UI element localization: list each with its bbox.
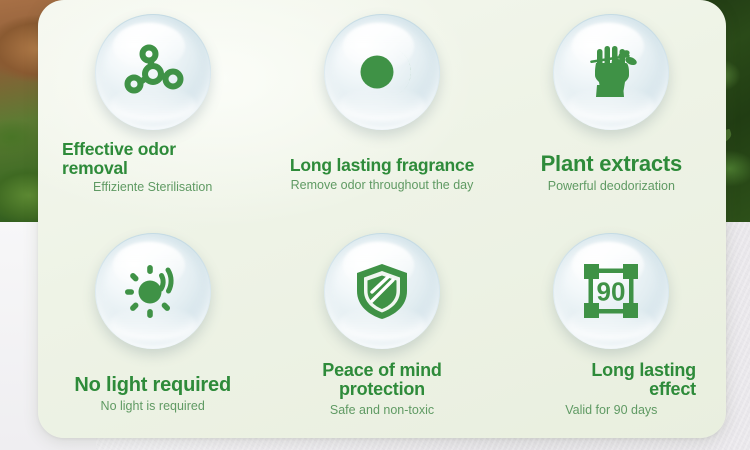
sun-no-light-icon: [123, 261, 183, 321]
shield-icon: [353, 261, 411, 321]
feature-caption: Long lasting effect Valid for 90 days: [497, 361, 726, 418]
feature-item-no-light-required[interactable]: No light required No light is required: [38, 219, 267, 438]
badge-number: 90: [597, 277, 626, 307]
feature-item-long-lasting-fragrance[interactable]: Long lasting fragrance Remove odor throu…: [267, 0, 496, 219]
feature-item-long-lasting-effect[interactable]: 90 Long lasting effect Valid for 90 days: [497, 219, 726, 438]
icon-bubble: [95, 233, 211, 349]
feature-caption: Long lasting fragrance Remove odor throu…: [267, 156, 496, 193]
icon-bubble: [553, 14, 669, 130]
molecule-icon: [122, 41, 184, 103]
moon-crescent-icon: [353, 43, 411, 101]
feature-title: Effective odor removal: [48, 140, 257, 177]
feature-subtitle: Valid for 90 days: [507, 403, 716, 418]
feature-title: No light required: [48, 375, 257, 396]
icon-bubble: [324, 14, 440, 130]
icon-bubble: [95, 14, 211, 130]
feature-title: Plant extracts: [507, 152, 716, 176]
feature-caption: Plant extracts Powerful deodorization: [497, 152, 726, 194]
feature-subtitle: Powerful deodorization: [507, 179, 716, 194]
feature-caption: No light required No light is required: [38, 375, 267, 414]
feature-item-peace-of-mind-protection[interactable]: Peace of mind protection Safe and non-to…: [267, 219, 496, 438]
feature-grid: Effective odor removal Effiziente Steril…: [38, 0, 726, 438]
feature-subtitle: Effiziente Sterilisation: [48, 180, 257, 195]
feature-subtitle: Safe and non-toxic: [277, 403, 486, 418]
feature-title: Peace of mind protection: [277, 361, 486, 400]
feature-caption: Effective odor removal Effiziente Steril…: [38, 140, 267, 195]
feature-subtitle: Remove odor throughout the day: [277, 178, 486, 193]
feature-item-effective-odor-removal[interactable]: Effective odor removal Effiziente Steril…: [38, 0, 267, 219]
hand-holding-plant-icon: [580, 41, 642, 103]
icon-bubble: [324, 233, 440, 349]
icon-bubble: 90: [553, 233, 669, 349]
feature-caption: Peace of mind protection Safe and non-to…: [267, 361, 496, 418]
feature-subtitle: No light is required: [48, 399, 257, 414]
feature-card: Effective odor removal Effiziente Steril…: [38, 0, 726, 438]
feature-item-plant-extracts[interactable]: Plant extracts Powerful deodorization: [497, 0, 726, 219]
feature-title: Long lasting fragrance: [277, 156, 486, 175]
ninety-days-frame-icon: 90: [581, 261, 641, 321]
product-feature-banner: Effective odor removal Effiziente Steril…: [0, 0, 750, 450]
feature-title: Long lasting effect: [507, 361, 716, 400]
